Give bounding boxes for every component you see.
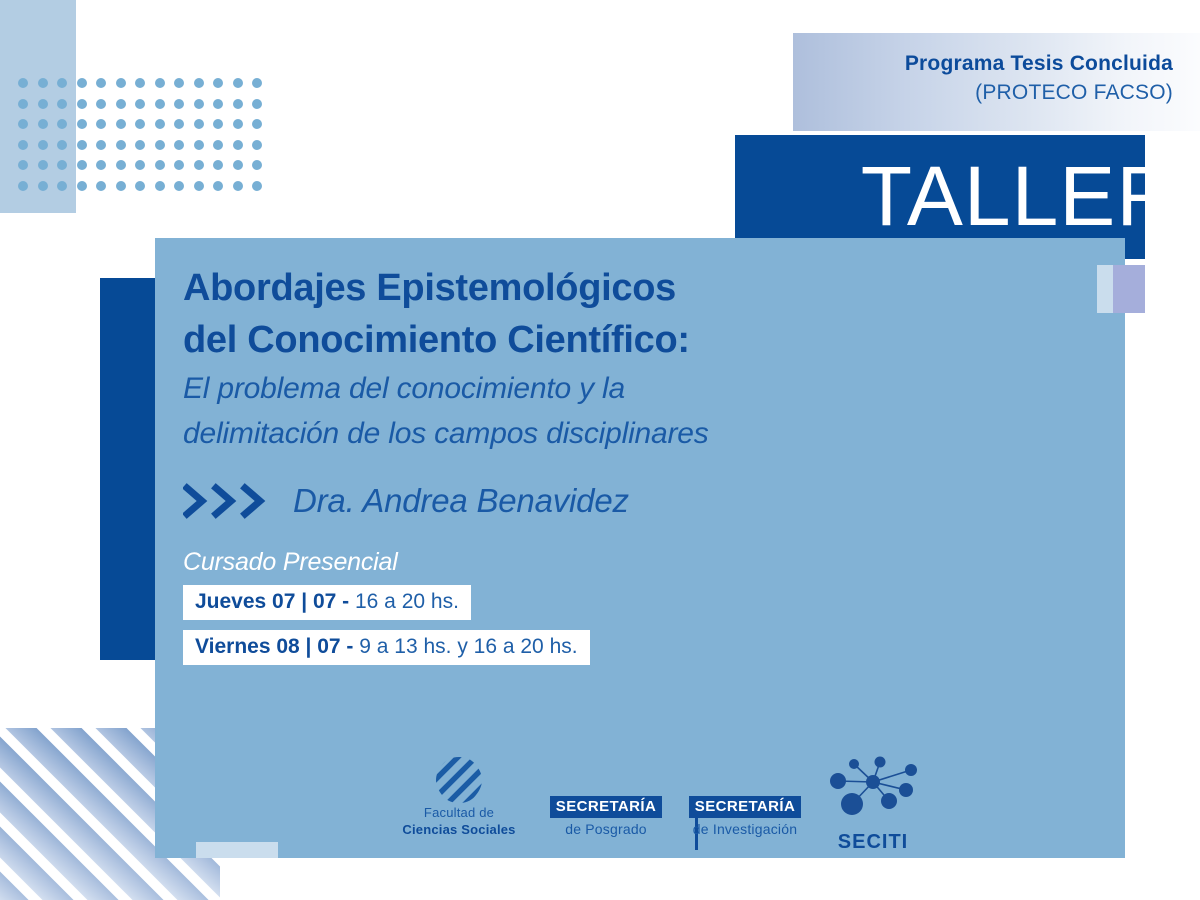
secretariat-tagline: SECRETARÍA — [689, 796, 801, 818]
decorative-dot — [233, 99, 243, 109]
decorative-dot — [135, 140, 145, 150]
footer-logo-bar: Facultad de Ciencias Sociales SECRETARÍA… — [183, 752, 1103, 857]
decorative-dot — [116, 160, 126, 170]
decorative-dot — [213, 140, 223, 150]
decorative-dot — [135, 99, 145, 109]
decorative-dot — [194, 140, 204, 150]
secretariat-tagline: SECRETARÍA — [550, 796, 662, 818]
decorative-dot — [135, 78, 145, 88]
decorative-dot — [116, 181, 126, 191]
chevron-right-triple-icon — [183, 482, 275, 520]
decorative-dot — [77, 119, 87, 129]
modality-label: Cursado Presencial — [183, 548, 1083, 577]
workshop-title-line-1: Abordajes Epistemológicos — [183, 262, 1083, 314]
decorative-dot — [233, 140, 243, 150]
decorative-dot — [96, 160, 106, 170]
poster-canvas: Programa Tesis Concluida (PROTECO FACSO)… — [0, 0, 1200, 900]
secretariat-subline: de Posgrado — [541, 821, 671, 837]
session-day: Jueves 07 | 07 - — [195, 590, 355, 613]
decorative-dot — [116, 99, 126, 109]
decorative-dot — [252, 140, 262, 150]
decorative-dot — [252, 160, 262, 170]
decorative-dot — [57, 119, 67, 129]
decorative-dot — [96, 140, 106, 150]
session-hours: 9 a 13 hs. y 16 a 20 hs. — [359, 635, 577, 658]
program-subtitle: (PROTECO FACSO) — [793, 78, 1173, 108]
session-chip: Jueves 07 | 07 - 16 a 20 hs. — [183, 585, 471, 620]
decorative-dot — [77, 160, 87, 170]
program-heading: Programa Tesis Concluida (PROTECO FACSO) — [793, 50, 1173, 108]
faculty-logo: Facultad de Ciencias Sociales — [395, 756, 523, 838]
session-row: Jueves 07 | 07 - 16 a 20 hs. — [183, 585, 1083, 630]
decorative-dot — [135, 181, 145, 191]
decorative-dot — [96, 78, 106, 88]
decorative-dot — [174, 160, 184, 170]
decorative-dot — [174, 99, 184, 109]
decorative-dot — [18, 160, 28, 170]
decorative-dot — [194, 99, 204, 109]
decorative-dot — [252, 119, 262, 129]
decorative-dot — [194, 119, 204, 129]
decorative-dot — [57, 99, 67, 109]
workshop-subtitle-line-2: delimitación de los campos disciplinares — [183, 411, 1083, 456]
decorative-dot — [233, 119, 243, 129]
decorative-dot — [252, 181, 262, 191]
decorative-dot — [135, 119, 145, 129]
decorative-dot — [38, 140, 48, 150]
decorative-dot — [252, 99, 262, 109]
decorative-dot — [233, 181, 243, 191]
session-row: Viernes 08 | 07 - 9 a 13 hs. y 16 a 20 h… — [183, 630, 1083, 675]
decorative-dot — [77, 78, 87, 88]
decorative-dot — [96, 181, 106, 191]
decorative-dot — [57, 140, 67, 150]
decorative-dot — [213, 78, 223, 88]
decorative-dot — [57, 78, 67, 88]
decorative-dot-grid — [18, 78, 270, 196]
decorative-dot — [18, 181, 28, 191]
session-day: Viernes 08 | 07 - — [195, 635, 359, 658]
workshop-title-line-2: del Conocimiento Científico: — [183, 314, 1083, 366]
decorative-dot — [252, 78, 262, 88]
seciti-logo: SECITI — [803, 752, 943, 854]
speaker-row: Dra. Andrea Benavidez — [183, 482, 1083, 520]
decorative-dot — [116, 119, 126, 129]
decorative-dot — [155, 160, 165, 170]
decorative-dot — [77, 181, 87, 191]
speaker-name: Dra. Andrea Benavidez — [293, 482, 629, 520]
session-list: Jueves 07 | 07 - 16 a 20 hs. Viernes 08 … — [183, 585, 1083, 675]
decorative-dot — [194, 78, 204, 88]
decorative-dot — [77, 140, 87, 150]
decorative-dot — [155, 181, 165, 191]
session-hours: 16 a 20 hs. — [355, 590, 459, 613]
decorative-dot — [18, 119, 28, 129]
decorative-dot — [96, 119, 106, 129]
secretariat-posgrado-logo: SECRETARÍA de Posgrado — [541, 796, 671, 837]
decorative-dot — [77, 99, 87, 109]
session-chip: Viernes 08 | 07 - 9 a 13 hs. y 16 a 20 h… — [183, 630, 590, 665]
decorative-dot — [57, 160, 67, 170]
decorative-dot — [155, 78, 165, 88]
decorative-dot — [38, 99, 48, 109]
decorative-dot — [174, 140, 184, 150]
decorative-left-dark-bar — [100, 278, 156, 660]
decorative-dot — [194, 181, 204, 191]
decorative-dot — [213, 160, 223, 170]
decorative-dot — [174, 78, 184, 88]
decorative-dot — [18, 78, 28, 88]
decorative-dot — [194, 160, 204, 170]
decorative-dot — [116, 78, 126, 88]
decorative-dot — [96, 99, 106, 109]
decorative-dot — [155, 99, 165, 109]
faculty-line-1: Facultad de — [395, 804, 523, 821]
panel-content: Abordajes Epistemológicos del Conocimien… — [183, 262, 1083, 675]
decorative-dot — [38, 119, 48, 129]
decorative-dot — [38, 181, 48, 191]
decorative-right-periwinkle-rectangle — [1113, 265, 1145, 313]
decorative-dot — [213, 99, 223, 109]
program-title: Programa Tesis Concluida — [793, 50, 1173, 78]
decorative-dot — [174, 119, 184, 129]
workshop-subtitle-line-1: El problema del conocimiento y la — [183, 366, 1083, 411]
seciti-label: SECITI — [803, 831, 943, 854]
decorative-dot — [213, 119, 223, 129]
decorative-dot — [38, 78, 48, 88]
decorative-dot — [116, 140, 126, 150]
decorative-dot — [57, 181, 67, 191]
decorative-dot — [155, 140, 165, 150]
decorative-dot — [135, 160, 145, 170]
seciti-network-icon — [803, 752, 943, 829]
decorative-dot — [155, 119, 165, 129]
decorative-dot — [18, 99, 28, 109]
decorative-dot — [18, 140, 28, 150]
secretariat-subline: de Investigación — [675, 821, 815, 837]
decorative-dot — [174, 181, 184, 191]
decorative-dot — [38, 160, 48, 170]
faculty-line-2: Ciencias Sociales — [395, 821, 523, 838]
decorative-dot — [233, 160, 243, 170]
faculty-logo-icon — [395, 756, 523, 804]
secretariat-investigacion-logo: SECRETARÍA de Investigación — [675, 796, 815, 837]
decorative-dot — [213, 181, 223, 191]
decorative-dot — [233, 78, 243, 88]
